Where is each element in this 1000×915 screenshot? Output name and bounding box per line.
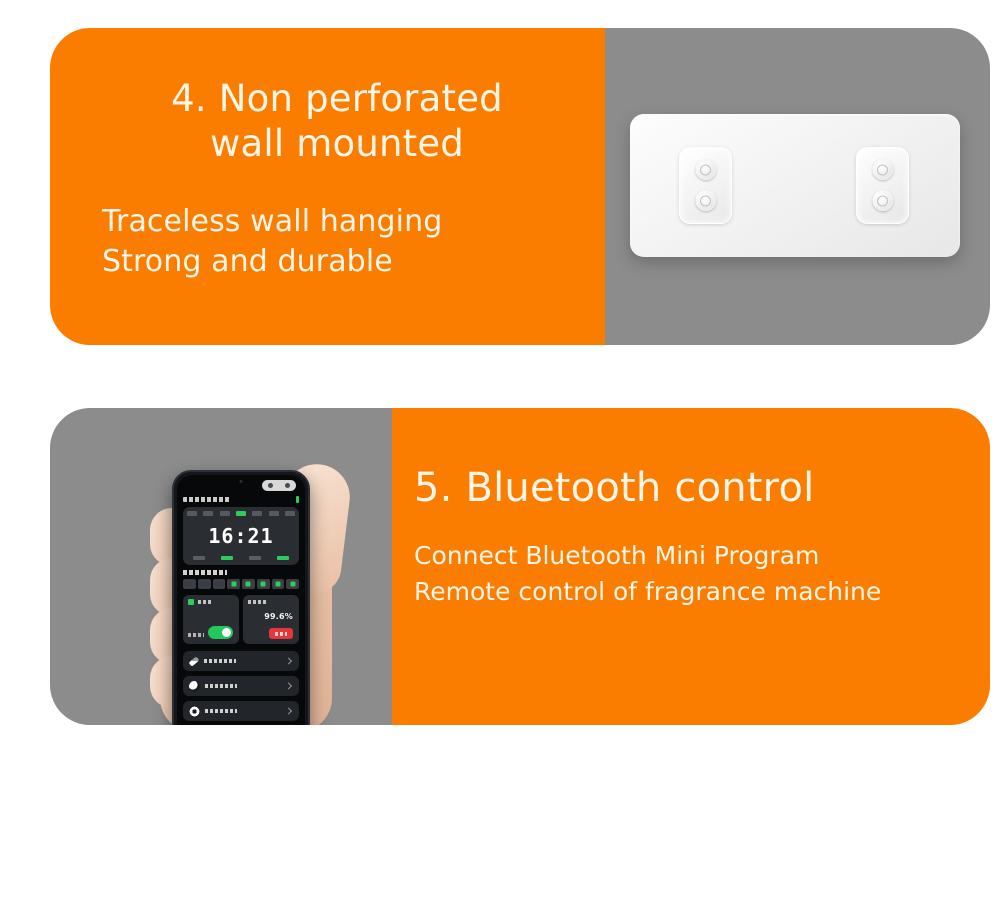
level-value: 99.6%: [264, 612, 293, 621]
weekday-chip[interactable]: [187, 511, 197, 516]
footer-chip-active[interactable]: [221, 556, 233, 560]
clock-footer-row: [193, 556, 289, 561]
mode-chip-active[interactable]: [227, 579, 240, 589]
mounting-pad-left: [679, 147, 732, 224]
adhesive-wall-sticker: [630, 114, 960, 257]
menu-list: [183, 651, 299, 721]
panel-subtitle: Connect Bluetooth Mini Program Remote co…: [414, 538, 990, 609]
panel-copy: 5. Bluetooth control Connect Bluetooth M…: [414, 466, 990, 609]
pad-nub-icon: [872, 159, 893, 180]
status-bar: [183, 495, 299, 503]
status-indicator-icon: [188, 599, 194, 605]
panel-title: 4. Non perforated wall mounted: [102, 76, 572, 166]
clock-icon: [189, 681, 200, 692]
mode-chip-row[interactable]: [183, 579, 299, 589]
mode-chip-active[interactable]: [257, 579, 270, 589]
panel-image-area: 16:21: [50, 408, 392, 725]
battery-icon: [296, 496, 299, 503]
mode-chip-active[interactable]: [272, 579, 285, 589]
chevron-right-icon: [285, 682, 292, 689]
pad-nub-icon: [872, 190, 893, 211]
panel-text-area: 5. Bluetooth control Connect Bluetooth M…: [392, 408, 990, 725]
footer-chip-active[interactable]: [277, 556, 289, 560]
pad-nub-icon: [695, 190, 716, 211]
camera-icon: [240, 480, 243, 483]
footer-chip[interactable]: [249, 556, 261, 560]
list-item-label: [204, 659, 236, 663]
mounting-pad-right: [856, 147, 909, 224]
list-item[interactable]: [183, 651, 299, 671]
weekday-chip[interactable]: [252, 511, 262, 516]
stop-button[interactable]: [269, 628, 293, 639]
power-toggle[interactable]: [208, 626, 233, 639]
pad-nub-icon: [695, 159, 716, 180]
power-card-label: [198, 600, 212, 604]
weekday-selector[interactable]: [187, 511, 295, 517]
weekday-chip[interactable]: [220, 511, 230, 516]
panel-image-area: [605, 28, 990, 345]
panel-title: 5. Bluetooth control: [414, 466, 990, 510]
power-card[interactable]: [183, 595, 239, 644]
list-item-label: [205, 684, 237, 688]
footer-chip[interactable]: [193, 556, 205, 560]
chevron-right-icon: [285, 657, 292, 664]
panel-subtitle: Traceless wall hanging Strong and durabl…: [102, 202, 572, 281]
list-item[interactable]: [183, 676, 299, 696]
panel-bluetooth-control: 16:21: [50, 408, 990, 725]
pen-icon: [189, 656, 200, 666]
status-date-text: [183, 497, 231, 502]
mode-chip[interactable]: [183, 579, 196, 589]
list-item[interactable]: [183, 701, 299, 721]
level-card[interactable]: 99.6%: [243, 595, 299, 644]
weekday-chip[interactable]: [269, 511, 279, 516]
level-card-label: [248, 600, 268, 604]
clock-time: 16:21: [183, 524, 299, 548]
mode-chip[interactable]: [213, 579, 226, 589]
mode-chip-active[interactable]: [242, 579, 255, 589]
panel-text-area: 4. Non perforated wall mounted Traceless…: [50, 28, 605, 345]
on-off-label: [188, 633, 204, 637]
mode-chip[interactable]: [198, 579, 211, 589]
weekday-chip-active[interactable]: [236, 511, 246, 516]
panel-copy: 4. Non perforated wall mounted Traceless…: [102, 76, 572, 281]
weekday-chip[interactable]: [203, 511, 213, 516]
weekday-chip[interactable]: [285, 511, 295, 516]
phone-screen[interactable]: 16:21: [177, 475, 305, 725]
list-item-label: [205, 709, 237, 713]
chevron-right-icon: [285, 707, 292, 714]
mode-chip-active[interactable]: [286, 579, 299, 589]
smartphone: 16:21: [172, 470, 310, 725]
control-cards: 99.6%: [183, 595, 299, 644]
panel-non-perforated-wall-mounted: 4. Non perforated wall mounted Traceless…: [50, 28, 990, 345]
ring-icon: [189, 706, 200, 717]
dynamic-island: [262, 480, 296, 491]
section-label: [183, 570, 227, 575]
hand-holding-phone: 16:21: [98, 452, 350, 725]
clock-card[interactable]: 16:21: [183, 507, 299, 565]
